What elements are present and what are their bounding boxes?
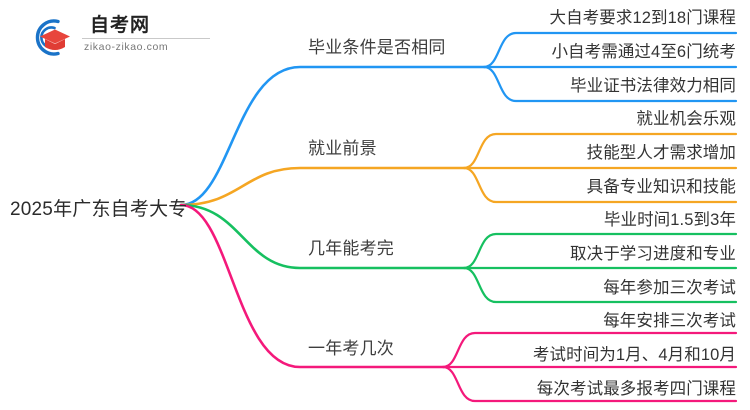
mindmap-root-node[interactable]: 2025年广东自考大专 [10,194,187,221]
mindmap-leaf-node-0-1[interactable]: 小自考需通过4至6门统考 [551,38,736,62]
mindmap-branch-node-1[interactable]: 就业前景 [308,134,377,159]
mindmap-leaf-node-3-1[interactable]: 考试时间为1月、4月和10月 [533,341,736,365]
mindmap-leaf-node-0-0[interactable]: 大自考要求12到18门课程 [549,4,736,28]
mindmap-leaf-node-0-2[interactable]: 毕业证书法律效力相同 [570,72,736,96]
mindmap-branch-node-2[interactable]: 几年能考完 [308,234,394,259]
mindmap-leaf-node-2-1[interactable]: 取决于学习进度和专业 [570,240,736,264]
mindmap-leaf-node-2-2[interactable]: 每年参加三次考试 [603,274,736,298]
mindmap-branch-node-3[interactable]: 一年考几次 [308,334,394,359]
mindmap-branch-node-0[interactable]: 毕业条件是否相同 [308,33,446,58]
mindmap-leaf-node-1-1[interactable]: 技能型人才需求增加 [587,139,736,163]
mindmap-leaf-node-3-0[interactable]: 每年安排三次考试 [603,307,736,331]
mindmap-leaf-node-1-0[interactable]: 就业机会乐观 [636,105,736,129]
link-root-branch-1 [181,168,464,205]
mindmap-canvas: 自考网 zikao-zikao.com 2025年广东自考大专 毕业条件是否相同… [0,0,750,410]
mindmap-leaf-node-1-2[interactable]: 具备专业知识和技能 [587,173,736,197]
mindmap-leaf-node-3-2[interactable]: 每次考试最多报考四门课程 [537,375,736,399]
mindmap-leaf-node-2-0[interactable]: 毕业时间1.5到3年 [604,206,736,230]
